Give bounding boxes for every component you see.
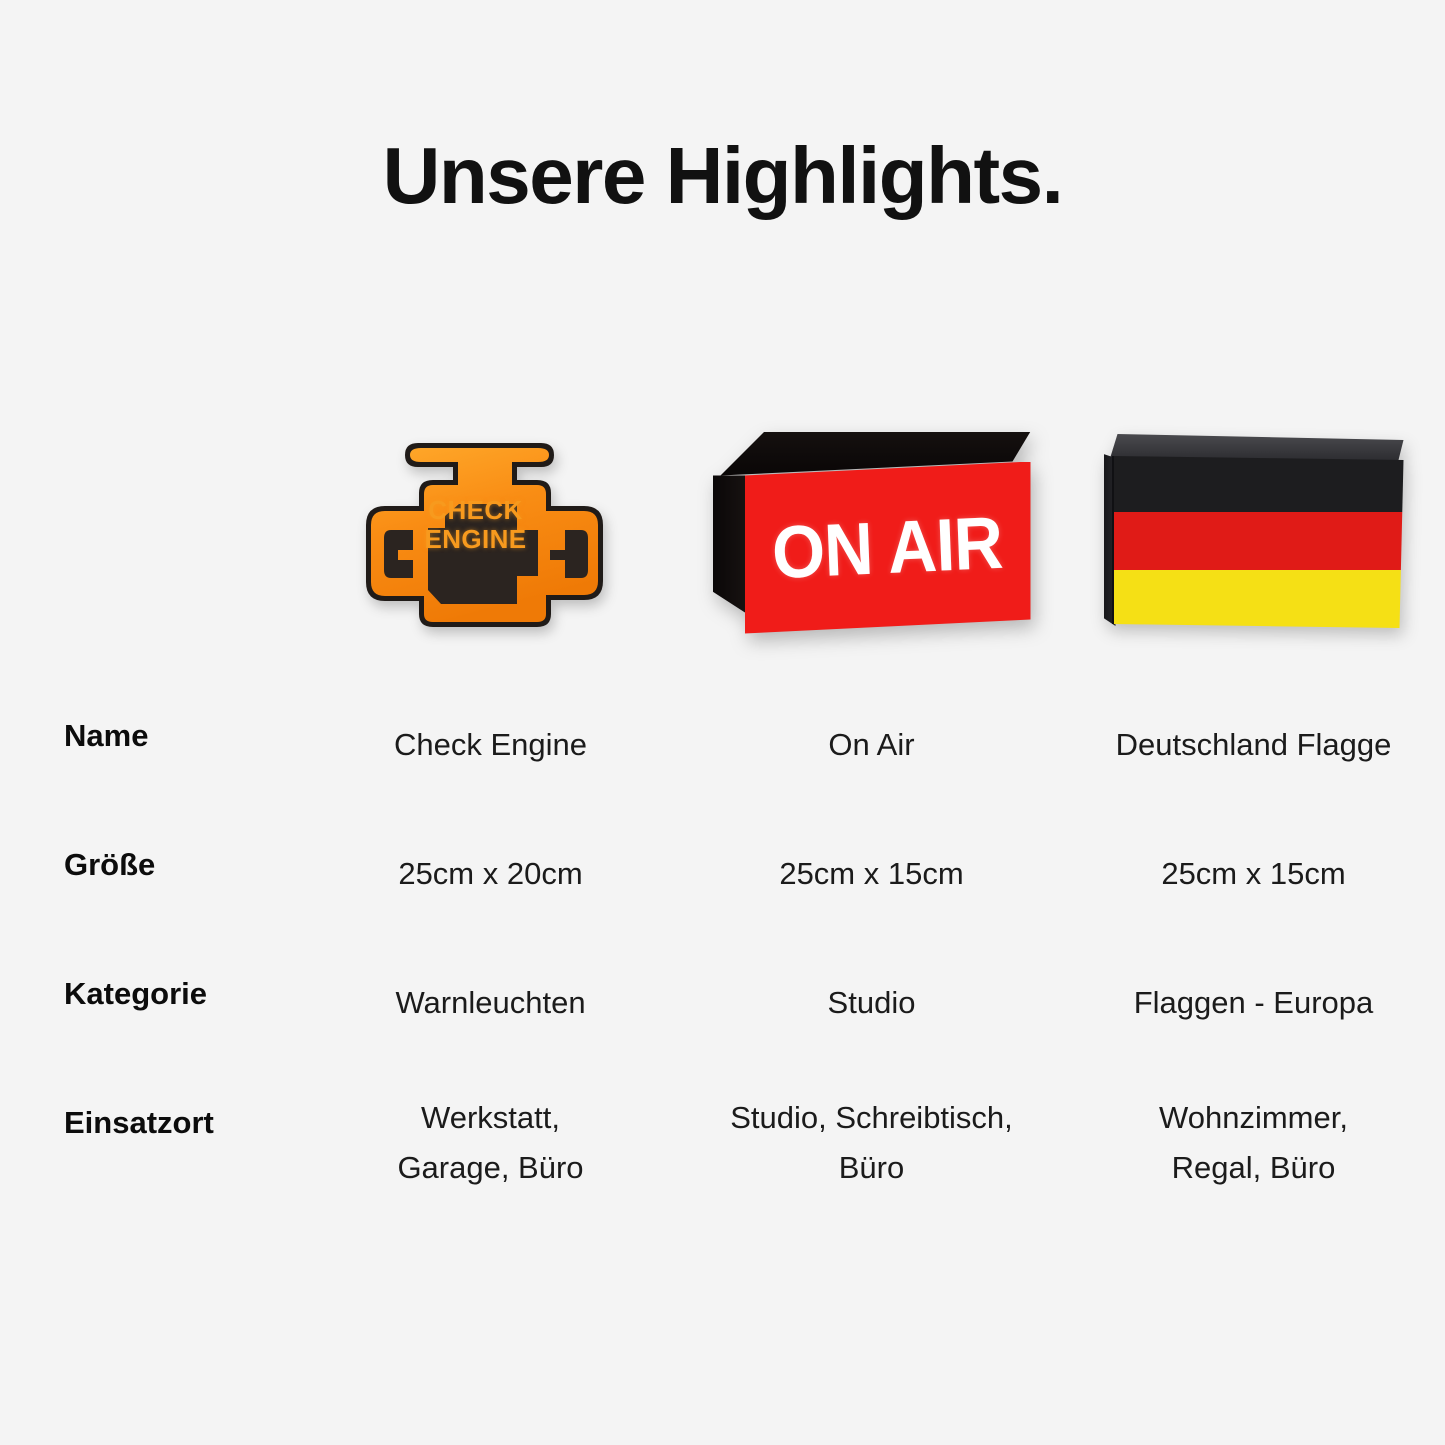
table-cell-kategorie-deutschland-flagge: Flaggen - Europa — [1062, 950, 1445, 1079]
table-cell-groesse-check-engine: 25cm x 20cm — [300, 821, 681, 950]
product-image-on-air[interactable]: ON AIR — [681, 404, 1062, 664]
germany-flag-lightbox[interactable] — [1104, 434, 1404, 634]
table-cell-einsatzort-deutschland-flagge: Wohnzimmer, Regal, Büro — [1062, 1079, 1445, 1219]
flag-band-black — [1114, 454, 1404, 512]
specifications-table: Name Check Engine On Air Deutschland Fla… — [0, 692, 1445, 1219]
table-cell-einsatzort-check-engine: Werkstatt, Garage, Büro — [300, 1079, 681, 1219]
table-cell-name-on-air: On Air — [681, 692, 1062, 821]
product-image-deutschland-flagge[interactable] — [1062, 404, 1445, 664]
row-label-einsatzort: Einsatzort — [0, 1079, 300, 1219]
row-label-name: Name — [0, 692, 300, 821]
flag-case-top — [1104, 434, 1404, 460]
flag-face — [1112, 454, 1404, 628]
on-air-face: ON AIR — [745, 462, 1031, 634]
flag-band-gold — [1114, 570, 1404, 628]
product-image-spacer — [0, 404, 300, 664]
table-cell-groesse-deutschland-flagge: 25cm x 15cm — [1062, 821, 1445, 950]
table-cell-kategorie-check-engine: Warnleuchten — [300, 950, 681, 1079]
row-label-kategorie: Kategorie — [0, 950, 300, 1079]
product-image-check-engine[interactable]: CHECK ENGINE — [300, 404, 681, 664]
table-cell-name-deutschland-flagge: Deutschland Flagge — [1062, 692, 1445, 821]
on-air-label: ON AIR — [771, 500, 1004, 595]
row-label-groesse: Größe — [0, 821, 300, 950]
check-engine-lightbox[interactable]: CHECK ENGINE — [341, 418, 641, 650]
product-image-row: CHECK ENGINE ON AIR — [0, 404, 1445, 664]
table-cell-groesse-on-air: 25cm x 15cm — [681, 821, 1062, 950]
on-air-lightbox[interactable]: ON AIR — [713, 432, 1031, 637]
table-cell-name-check-engine: Check Engine — [300, 692, 681, 821]
table-cell-einsatzort-on-air: Studio, Schreibtisch, Büro — [681, 1079, 1062, 1219]
highlights-page: Unsere Highlights. — [0, 0, 1445, 1445]
page-title: Unsere Highlights. — [0, 132, 1445, 220]
table-cell-kategorie-on-air: Studio — [681, 950, 1062, 1079]
flag-band-red — [1114, 512, 1404, 570]
engine-warning-icon — [341, 418, 641, 650]
